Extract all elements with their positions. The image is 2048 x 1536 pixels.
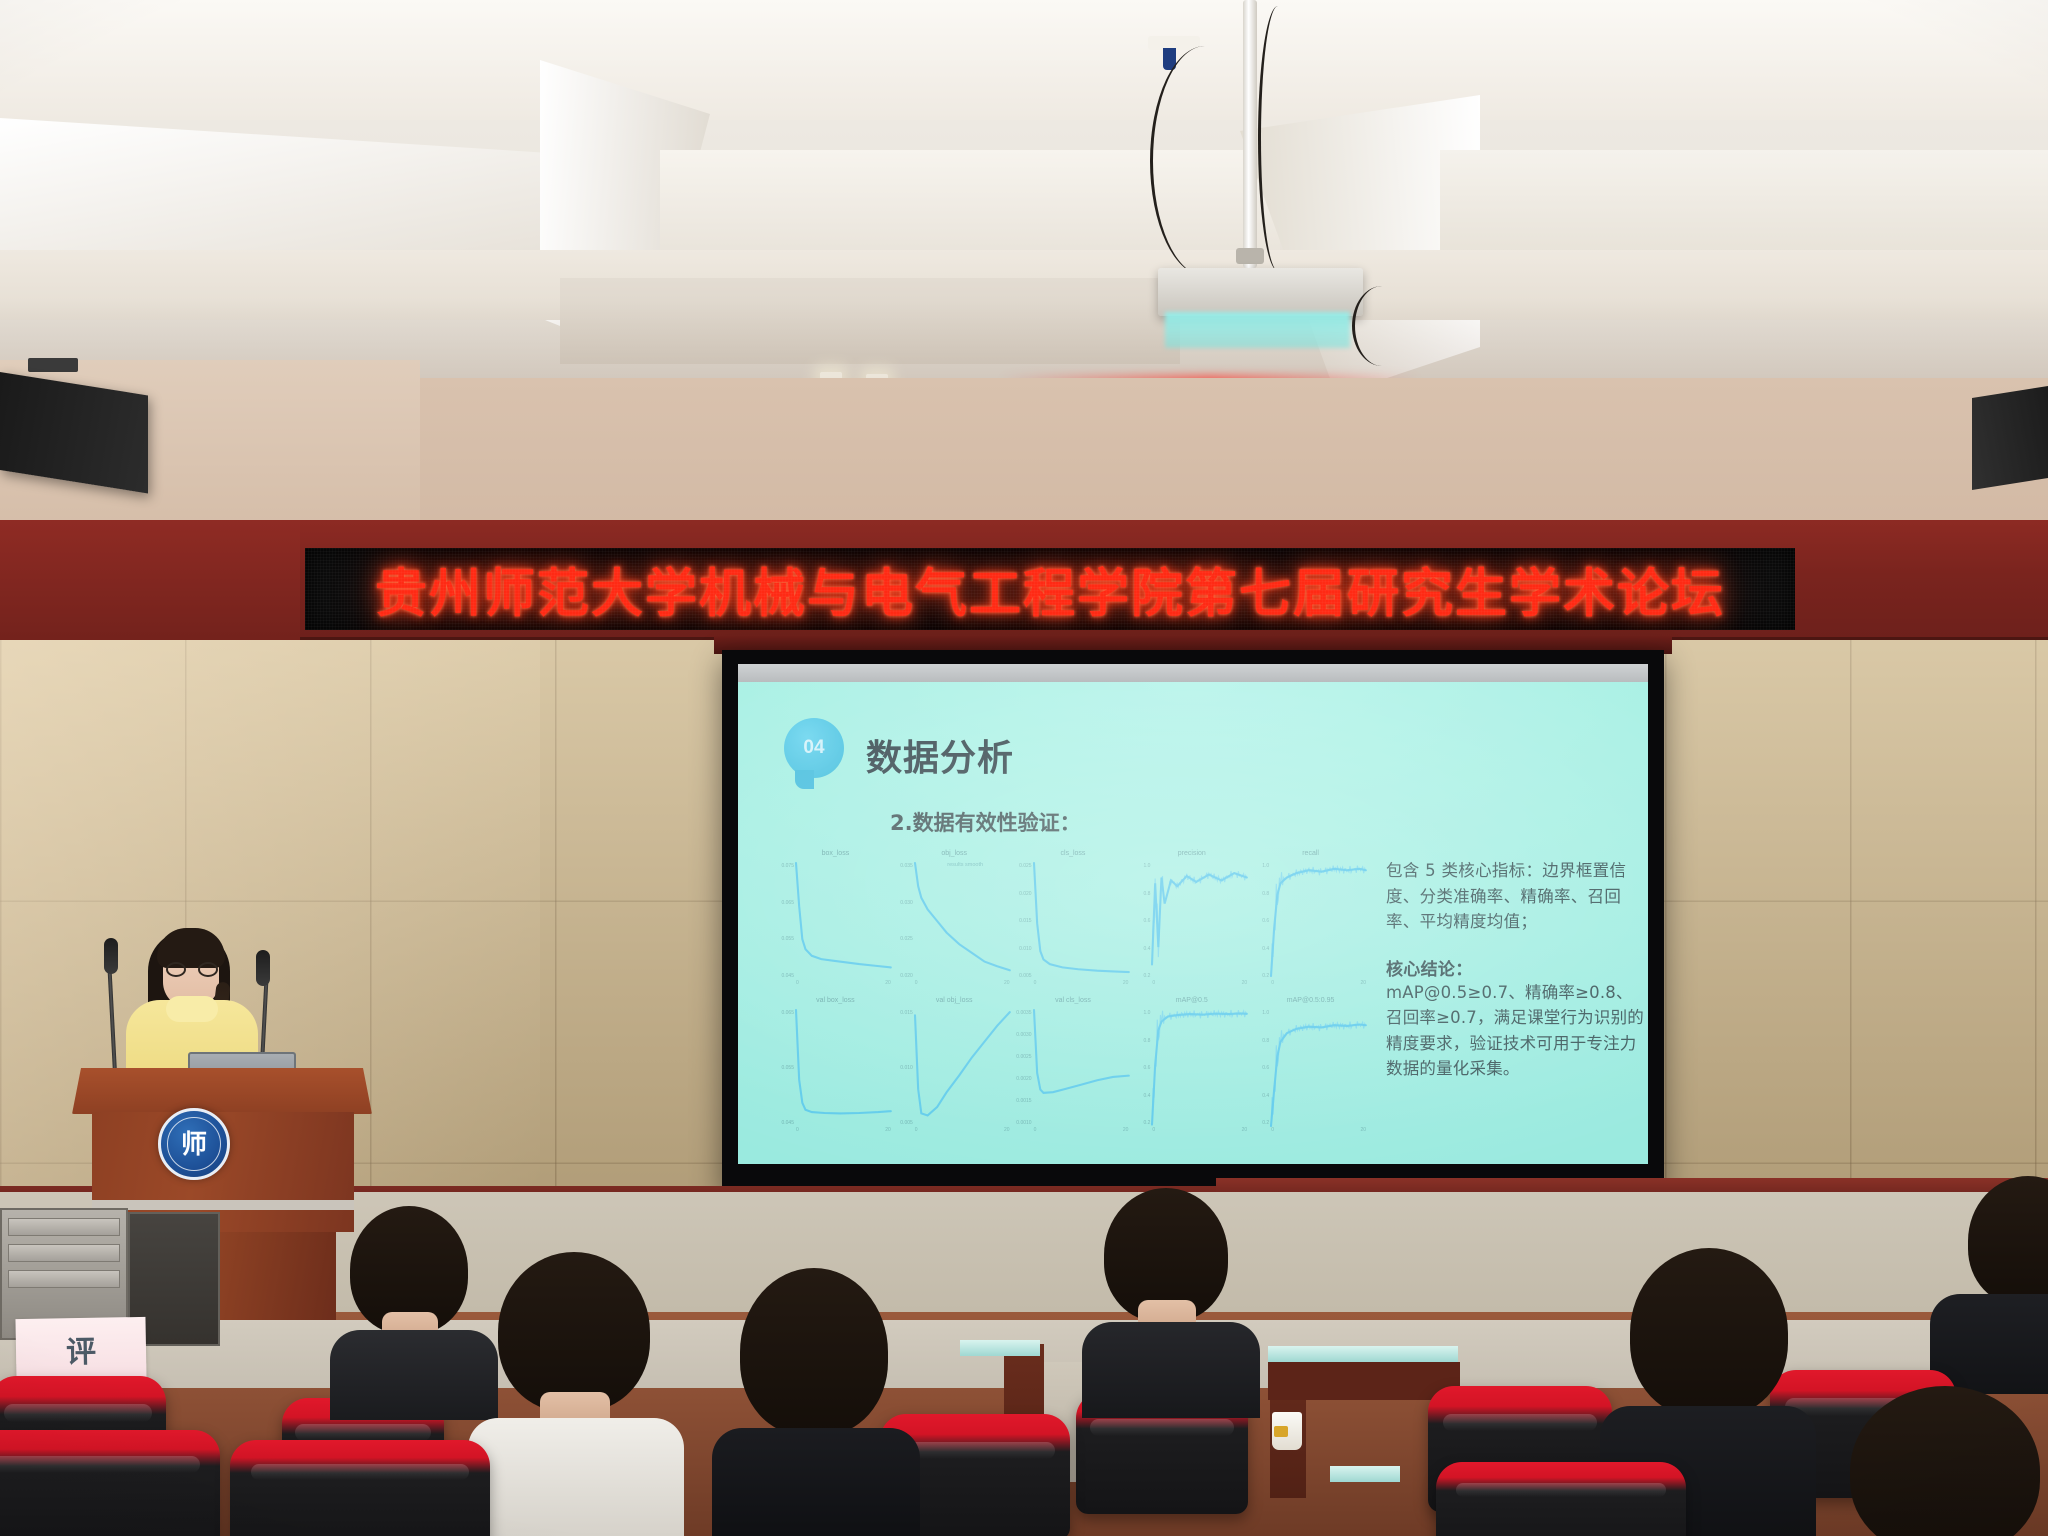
presentation-app-chrome [738, 664, 1648, 682]
mini-chart-plot [1034, 863, 1129, 979]
chart-series-raw [1152, 871, 1247, 964]
banner-wood-trim-left [0, 520, 300, 642]
slide-text-column: 包含 5 类核心指标：边界框置信度、分类准确率、精确率、召回率、平均精度均值； … [1386, 858, 1648, 1082]
y-tick-label: 0.8 [1143, 891, 1152, 897]
y-tick-label: 0.4 [1143, 946, 1152, 952]
audience-desk-surface [1268, 1346, 1458, 1362]
x-tick-label: 0 [796, 1127, 799, 1139]
attendee-shoulders [1082, 1322, 1260, 1418]
x-tick-label: 0 [796, 980, 799, 992]
audience-desk-shelf [1268, 1362, 1460, 1400]
y-tick-label: 0.4 [1262, 946, 1271, 952]
x-tick-label: 20 [1123, 1127, 1129, 1139]
presenter-glasses [166, 962, 218, 977]
presentation-slide: 04 数据分析 2.数据有效性验证： box_loss0.0750.0650.0… [738, 682, 1648, 1164]
x-tick-label: 20 [1004, 1127, 1010, 1139]
y-tick-label: 0.020 [900, 973, 915, 979]
mini-chart: val box_loss0.0650.0550.045020 [778, 997, 893, 1140]
rack-unit [8, 1218, 120, 1236]
mini-chart-y-axis: 0.0350.0300.0250.020 [897, 863, 915, 979]
mini-chart-title: mAP@0.5:0.95 [1287, 997, 1335, 1004]
y-tick-label: 0.025 [900, 936, 915, 942]
projection-screen-frame: 04 数据分析 2.数据有效性验证： box_loss0.0750.0650.0… [722, 650, 1664, 1190]
mini-chart: obj_lossresults smooth0.0350.0300.0250.0… [897, 850, 1012, 993]
audience-desk-surface [1330, 1466, 1400, 1482]
y-tick-label: 0.4 [1262, 1093, 1271, 1099]
chart-series-line [796, 863, 891, 967]
mini-chart-plot [1034, 1010, 1129, 1126]
slide-subtitle: 2.数据有效性验证： [890, 807, 1081, 837]
evaluation-placard-text: 评 [66, 1327, 97, 1372]
x-tick-label: 0 [1271, 980, 1274, 992]
mini-chart-x-axis: 020 [915, 980, 1010, 992]
x-tick-label: 0 [1152, 1127, 1155, 1139]
training-results-chart-grid: box_loss0.0750.0650.0550.045020obj_lossr… [778, 850, 1368, 1140]
mini-chart-y-axis: 1.00.80.60.40.2 [1253, 863, 1271, 979]
rack-unit [8, 1244, 120, 1262]
slide-section-badge: 04 [784, 718, 844, 778]
chart-series-line [1271, 869, 1366, 976]
attendee-head [498, 1252, 650, 1412]
mini-chart-plot [1271, 1010, 1366, 1126]
mini-chart-plot [796, 1010, 891, 1126]
y-tick-label: 0.055 [781, 1065, 796, 1071]
audience-seat [230, 1440, 490, 1536]
x-tick-label: 20 [1242, 1127, 1248, 1139]
y-tick-label: 0.8 [1143, 1038, 1152, 1044]
mini-chart: mAP@0.5:0.951.00.80.60.40.2020 [1253, 997, 1368, 1140]
microphone-head-left [104, 938, 118, 974]
y-tick-label: 0.0015 [1016, 1098, 1033, 1104]
y-tick-label: 0.2 [1262, 973, 1271, 979]
mini-chart-x-axis: 020 [915, 1127, 1010, 1139]
chart-series-line [1034, 863, 1129, 972]
projector-light-beam [1165, 312, 1350, 348]
y-tick-label: 0.045 [781, 973, 796, 979]
chart-series-line [796, 1010, 891, 1113]
ceiling-projector [1158, 268, 1363, 316]
x-tick-label: 20 [885, 980, 891, 992]
y-tick-label: 0.4 [1143, 1093, 1152, 1099]
x-tick-label: 0 [1034, 980, 1037, 992]
y-tick-label: 0.015 [1019, 918, 1034, 924]
x-tick-label: 0 [1034, 1127, 1037, 1139]
mini-chart-y-axis: 0.0150.0100.005 [897, 1010, 915, 1126]
projector-cable [1352, 286, 1412, 366]
projection-screen-surface: 04 数据分析 2.数据有效性验证： box_loss0.0750.0650.0… [738, 664, 1648, 1164]
mini-chart: box_loss0.0750.0650.0550.045020 [778, 850, 893, 993]
mini-chart: precision1.00.80.60.40.2020 [1134, 850, 1249, 993]
y-tick-label: 0.0020 [1016, 1076, 1033, 1082]
paper-cup [1272, 1412, 1302, 1450]
mini-chart-x-axis: 020 [796, 1127, 891, 1139]
chart-series-line [915, 863, 1010, 970]
audience-seat [1436, 1462, 1686, 1536]
chart-series-line [1271, 1025, 1366, 1127]
evaluation-placard: 评 [15, 1317, 146, 1381]
mini-chart-title: val obj_loss [936, 997, 973, 1004]
y-tick-label: 0.055 [781, 936, 796, 942]
mini-chart-title: obj_loss [941, 850, 967, 857]
y-tick-label: 0.0010 [1016, 1120, 1033, 1126]
mini-chart-plot [915, 1010, 1010, 1126]
mini-chart-title: val cls_loss [1055, 997, 1091, 1004]
y-tick-label: 0.015 [900, 1010, 915, 1016]
y-tick-label: 0.010 [1019, 946, 1034, 952]
chart-series-raw [1271, 866, 1366, 976]
mini-chart: cls_loss0.0250.0200.0150.0100.005020 [1016, 850, 1131, 993]
mini-chart-plot [1271, 863, 1366, 979]
mini-chart-plot [796, 863, 891, 979]
y-tick-label: 1.0 [1262, 863, 1271, 869]
mini-chart-plot [915, 863, 1010, 979]
y-tick-label: 0.020 [1019, 891, 1034, 897]
ceiling-beam [0, 0, 2048, 120]
y-tick-label: 0.065 [781, 900, 796, 906]
mini-chart-plot [1152, 863, 1247, 979]
mini-chart-y-axis: 1.00.80.60.40.2 [1134, 863, 1152, 979]
mini-chart-plot [1152, 1010, 1247, 1126]
attendee-head [740, 1268, 888, 1436]
y-tick-label: 0.0035 [1016, 1010, 1033, 1016]
mini-chart-x-axis: 020 [1034, 1127, 1129, 1139]
attendee-shoulders [468, 1418, 684, 1536]
mini-chart-x-axis: 020 [1271, 980, 1366, 992]
chart-series-line [1034, 1010, 1129, 1093]
y-tick-label: 0.2 [1143, 973, 1152, 979]
led-banner-text: 贵州师范大学机械与电气工程学院第七届研究生学术论坛 [375, 552, 1725, 627]
x-tick-label: 0 [1152, 980, 1155, 992]
podium-top [72, 1068, 372, 1114]
projector-mount-joint [1236, 248, 1264, 264]
slide-conclusion-heading: 核心结论： [1386, 955, 1648, 980]
chart-series-line [915, 1012, 1010, 1115]
x-tick-label: 20 [1360, 980, 1366, 992]
x-tick-label: 0 [915, 1127, 918, 1139]
auditorium-scene: 贵州师范大学机械与电气工程学院第七届研究生学术论坛 04 数据分析 2.数据有效… [0, 0, 2048, 1536]
slide-conclusion-body: mAP@0.5≥0.7、精确率≥0.8、召回率≥0.7，满足课堂行为识别的精度要… [1386, 980, 1648, 1082]
y-tick-label: 0.6 [1262, 918, 1271, 924]
mini-chart-x-axis: 020 [1152, 1127, 1247, 1139]
mini-chart-title: val box_loss [816, 997, 855, 1004]
presenter-collar [166, 996, 218, 1022]
mini-chart-x-axis: 020 [1152, 980, 1247, 992]
rack-unit [8, 1270, 120, 1288]
y-tick-label: 0.025 [1019, 863, 1034, 869]
y-tick-label: 0.6 [1143, 1065, 1152, 1071]
y-tick-label: 0.0025 [1016, 1054, 1033, 1060]
attendee-shoulders [330, 1330, 498, 1420]
microphone-head-right [256, 950, 270, 986]
y-tick-label: 0.6 [1143, 918, 1152, 924]
chart-series-raw [1152, 1010, 1247, 1125]
mini-chart: val obj_loss0.0150.0100.005020 [897, 997, 1012, 1140]
mini-chart-y-axis: 0.0250.0200.0150.0100.005 [1016, 863, 1034, 979]
y-tick-label: 0.0030 [1016, 1032, 1033, 1038]
podium-accent-strip [92, 1200, 354, 1210]
y-tick-label: 0.2 [1143, 1120, 1152, 1126]
projector-cable [1258, 6, 1298, 271]
y-tick-label: 0.065 [781, 1010, 796, 1016]
mini-chart-y-axis: 0.0650.0550.045 [778, 1010, 796, 1126]
y-tick-label: 1.0 [1143, 863, 1152, 869]
mini-chart-title: cls_loss [1061, 850, 1086, 857]
mini-chart: mAP@0.51.00.80.60.40.2020 [1134, 997, 1249, 1140]
mini-chart-y-axis: 1.00.80.60.40.2 [1134, 1010, 1152, 1126]
y-tick-label: 0.8 [1262, 891, 1271, 897]
mini-chart-y-axis: 1.00.80.60.40.2 [1253, 1010, 1271, 1126]
y-tick-label: 0.005 [900, 1120, 915, 1126]
y-tick-label: 0.010 [900, 1065, 915, 1071]
y-tick-label: 0.6 [1262, 1065, 1271, 1071]
mini-chart-title: recall [1302, 850, 1319, 857]
audience-seat [0, 1430, 220, 1536]
y-tick-label: 0.030 [900, 900, 915, 906]
y-tick-label: 0.035 [900, 863, 915, 869]
y-tick-label: 0.005 [1019, 973, 1034, 979]
x-tick-label: 20 [1360, 1127, 1366, 1139]
slide-section-number: 04 [803, 737, 824, 759]
mini-chart-title: precision [1178, 850, 1206, 857]
mini-chart-y-axis: 0.00350.00300.00250.00200.00150.0010 [1016, 1010, 1034, 1126]
y-tick-label: 0.075 [781, 863, 796, 869]
chart-series-line [1152, 873, 1247, 964]
projector-mount-pole [1243, 0, 1257, 268]
mini-chart: recall1.00.80.60.40.2020 [1253, 850, 1368, 993]
mini-chart-title: mAP@0.5 [1176, 997, 1208, 1004]
slide-title: 数据分析 [866, 729, 1014, 781]
y-tick-label: 0.8 [1262, 1038, 1271, 1044]
x-tick-label: 20 [1004, 980, 1010, 992]
x-tick-label: 20 [885, 1127, 891, 1139]
x-tick-label: 0 [1271, 1127, 1274, 1139]
attendee-shoulders [712, 1428, 920, 1536]
mini-chart-x-axis: 020 [796, 980, 891, 992]
mini-chart-x-axis: 020 [1034, 980, 1129, 992]
y-tick-label: 0.2 [1262, 1120, 1271, 1126]
mini-chart: val cls_loss0.00350.00300.00250.00200.00… [1016, 997, 1131, 1140]
chart-series-line [1152, 1013, 1247, 1124]
university-emblem-glyph: 师 [167, 1117, 221, 1171]
x-tick-label: 0 [915, 980, 918, 992]
mini-chart-title: box_loss [822, 850, 850, 857]
audience-desk-surface [960, 1340, 1040, 1356]
mini-chart-x-axis: 020 [1271, 1127, 1366, 1139]
x-tick-label: 20 [1242, 980, 1248, 992]
x-tick-label: 20 [1123, 980, 1129, 992]
mini-chart-y-axis: 0.0750.0650.0550.045 [778, 863, 796, 979]
y-tick-label: 1.0 [1262, 1010, 1271, 1016]
slide-metrics-paragraph: 包含 5 类核心指标：边界框置信度、分类准确率、精确率、召回率、平均精度均值； [1386, 858, 1648, 935]
speaker-bracket [28, 358, 78, 372]
university-emblem: 师 [158, 1108, 230, 1180]
led-banner: 贵州师范大学机械与电气工程学院第七届研究生学术论坛 [305, 548, 1795, 630]
y-tick-label: 1.0 [1143, 1010, 1152, 1016]
y-tick-label: 0.045 [781, 1120, 796, 1126]
wall-speaker-right [1972, 386, 2048, 490]
attendee-head [1630, 1248, 1788, 1418]
